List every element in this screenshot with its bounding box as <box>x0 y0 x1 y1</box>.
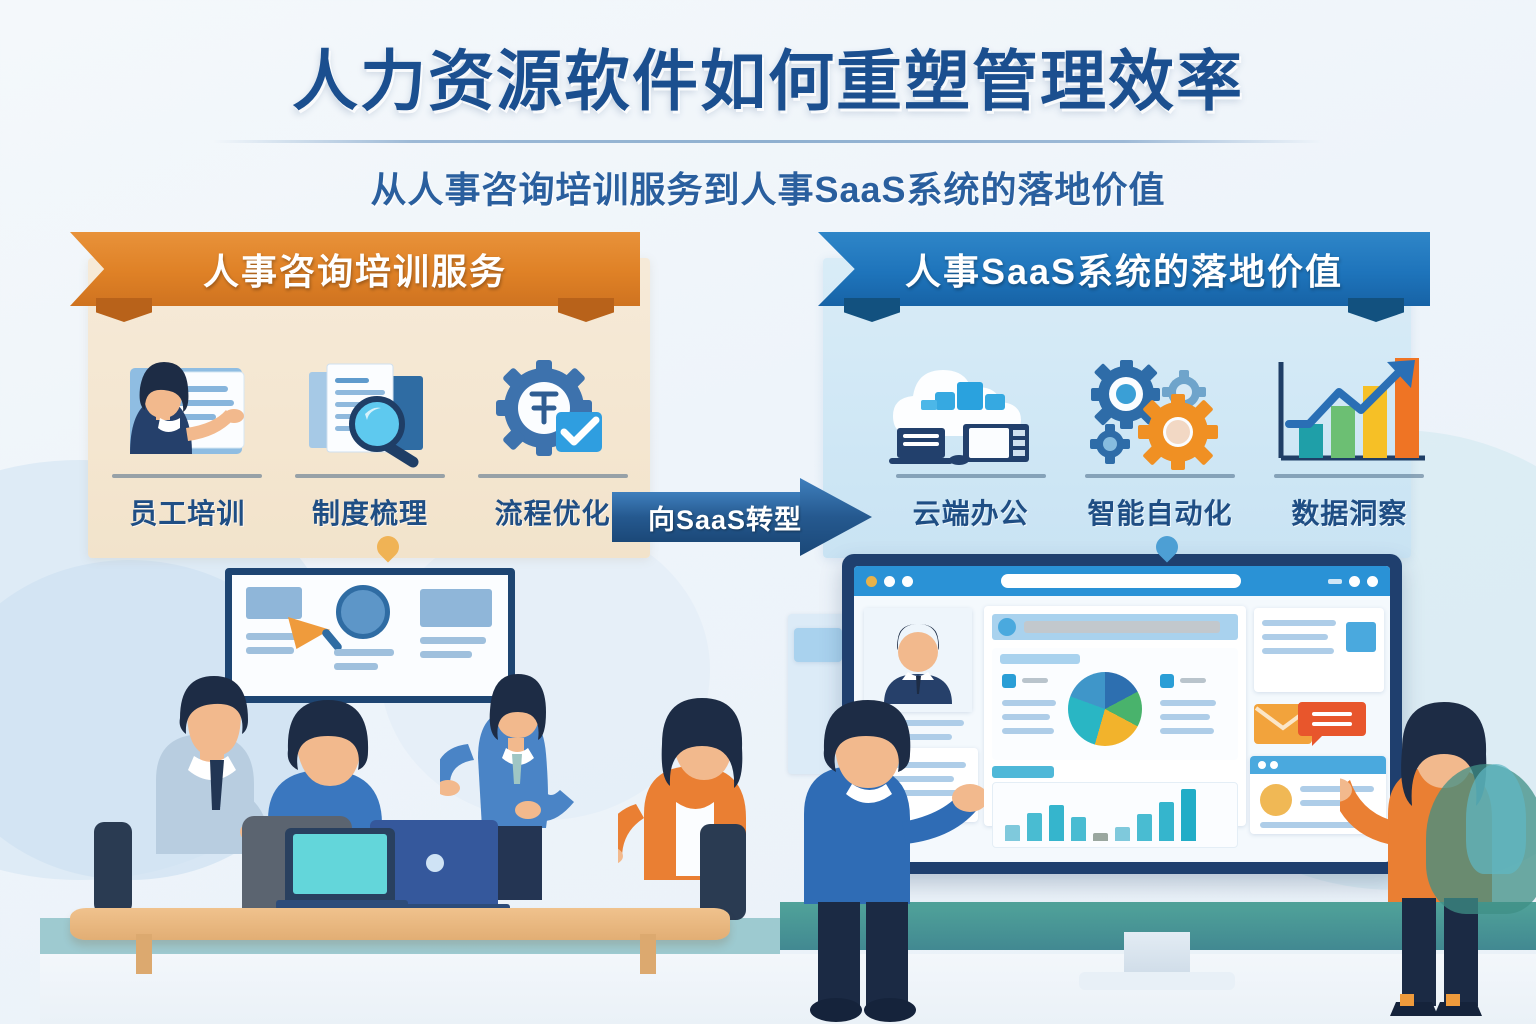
board-line <box>334 649 394 656</box>
cloud-devices-icon <box>885 352 1057 470</box>
card-title-bar <box>1000 654 1080 664</box>
icon-shelf <box>478 474 628 478</box>
page-subtitle: 从人事咨询培训服务到人事SaaS系统的落地价值 <box>0 161 1536 213</box>
chair-back <box>700 824 746 920</box>
right-banner: 人事SaaS系统的落地价值 <box>818 232 1430 306</box>
bar <box>1093 833 1108 841</box>
stat-line <box>1002 714 1050 720</box>
board-line <box>246 647 294 654</box>
left-item-label-1: 制度梳理 <box>312 492 428 532</box>
legend-label <box>1180 678 1206 683</box>
left-banner-label: 人事咨询培训服务 <box>203 243 507 295</box>
menu-icon[interactable] <box>1328 579 1342 584</box>
map-pin-icon <box>1156 536 1178 566</box>
background-cabinet-drawer <box>794 628 842 662</box>
right-icon-row: 云端办公 <box>876 352 1444 532</box>
map-pin-icon <box>377 536 399 566</box>
right-item-1: 智能自动化 <box>1065 352 1254 532</box>
decorative-plant <box>1466 764 1526 874</box>
desk-leg <box>136 934 152 974</box>
transition-arrow-label: 向SaaS转型 <box>630 492 820 542</box>
left-item-label-0: 员工培训 <box>129 492 245 532</box>
window-dot-icon[interactable] <box>884 576 895 587</box>
bar <box>1049 805 1064 841</box>
analytics-panel[interactable] <box>984 606 1246 826</box>
window-dot-icon[interactable] <box>1367 576 1378 587</box>
right-item-label-1: 智能自动化 <box>1087 492 1232 532</box>
icon-shelf <box>112 474 262 478</box>
bar <box>1071 817 1086 841</box>
left-item-0: 员工培训 <box>96 352 279 532</box>
bar <box>1115 827 1130 841</box>
hr-saas-dashboard-scene <box>780 544 1536 1024</box>
laptop-logo <box>426 854 444 872</box>
presenter-trainer-icon <box>112 352 262 470</box>
window-dot-icon[interactable] <box>902 576 913 587</box>
icon-shelf <box>896 474 1046 478</box>
window-dot-icon <box>1258 761 1266 769</box>
monitor-foot <box>1079 972 1235 990</box>
right-banner-label: 人事SaaS系统的落地价值 <box>905 243 1343 295</box>
summary-line <box>1262 634 1328 640</box>
bar <box>1005 825 1020 841</box>
panel-avatar-icon <box>998 618 1016 636</box>
bar <box>1137 814 1152 841</box>
bar-chart-card[interactable] <box>992 782 1238 848</box>
stat-line <box>1160 714 1210 720</box>
summary-thumbnail <box>1346 622 1376 652</box>
left-icon-row: 员工培训 制度梳理 <box>96 352 644 532</box>
transition-arrow: 向SaaS转型 <box>612 478 872 556</box>
desk-leg <box>640 934 656 974</box>
interlocking-gears-icon <box>1080 352 1240 470</box>
window-dot-icon[interactable] <box>866 576 877 587</box>
infographic-canvas: 人力资源软件如何重塑管理效率 从人事咨询培训服务到人事SaaS系统的落地价值 人… <box>0 0 1536 1024</box>
stat-line <box>1002 728 1054 734</box>
meeting-desk <box>70 908 730 940</box>
legend-swatch <box>1002 674 1016 688</box>
browser-address-bar[interactable] <box>1001 574 1241 588</box>
laptop-screen <box>293 834 387 894</box>
pie-chart-card[interactable] <box>992 648 1238 760</box>
icon-shelf <box>1085 474 1235 478</box>
header: 人力资源软件如何重塑管理效率 从人事咨询培训服务到人事SaaS系统的落地价值 <box>0 28 1536 213</box>
legend-label <box>1022 678 1048 683</box>
dashboard-bar-chart <box>1005 787 1196 841</box>
bar <box>1159 802 1174 841</box>
right-item-label-2: 数据洞察 <box>1291 492 1407 532</box>
stat-line <box>1160 728 1214 734</box>
document-magnifier-icon <box>295 352 445 470</box>
page-title: 人力资源软件如何重塑管理效率 <box>0 28 1536 124</box>
window-dot-icon[interactable] <box>1349 576 1360 587</box>
bar <box>1027 813 1042 841</box>
stat-line <box>1160 700 1216 706</box>
summary-line <box>1262 620 1336 626</box>
left-item-1: 制度梳理 <box>279 352 462 532</box>
board-chip <box>246 587 302 619</box>
window-dot-icon <box>1270 761 1278 769</box>
browser-toolbar[interactable] <box>854 566 1390 596</box>
panel-title-placeholder <box>1024 621 1220 633</box>
growth-bar-chart-icon <box>1265 352 1433 470</box>
chair-back <box>94 822 132 914</box>
pointing-man-figure <box>774 664 984 1024</box>
gear-checkmark-icon <box>478 352 628 470</box>
offline-consulting-meeting-scene <box>40 554 780 1024</box>
board-magnifier-icon <box>336 585 390 639</box>
right-item-label-0: 云端办公 <box>913 492 1029 532</box>
bar-chart-title <box>992 766 1054 778</box>
right-item-2: 数据洞察 <box>1255 352 1444 532</box>
monitor-stand <box>1124 932 1190 976</box>
bar <box>1181 789 1196 841</box>
dashboard-pie-chart <box>1068 672 1142 746</box>
user-avatar-icon <box>1260 784 1292 816</box>
legend-swatch <box>1160 674 1174 688</box>
icon-shelf <box>295 474 445 478</box>
left-banner: 人事咨询培训服务 <box>70 232 640 306</box>
summary-line <box>1262 648 1334 654</box>
icon-shelf <box>1274 474 1424 478</box>
title-divider <box>213 140 1323 143</box>
right-item-0: 云端办公 <box>876 352 1065 532</box>
left-item-label-2: 流程优化 <box>495 492 611 532</box>
stat-line <box>1002 700 1056 706</box>
